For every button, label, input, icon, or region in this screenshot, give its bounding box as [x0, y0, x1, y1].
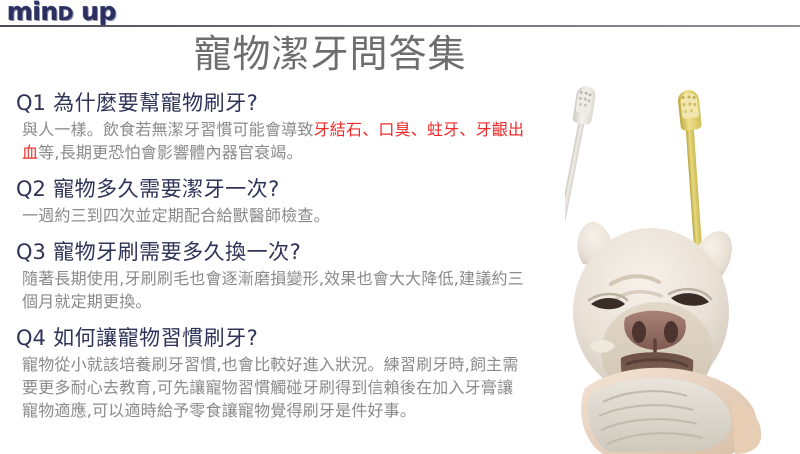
qa-block-q1: Q1 為什麼要幫寵物刷牙? 與人一樣。飲食若無潔牙習慣可能會導致牙結石、口臭、蛀…: [16, 88, 576, 164]
answer-segment: 個月就定期更換。: [22, 292, 152, 311]
qa-answer-q4: 寵物從小就該培養刷牙習慣,也會比較好進入狀況。練習刷牙時,飼主需 要更多耐心去教…: [16, 353, 576, 422]
qa-block-q3: Q3 寵物牙刷需要多久換一次? 隨著長期使用,牙刷刷毛也會逐漸磨損變形,效果也會…: [16, 237, 576, 313]
qa-block-q2: Q2 寵物多久需要潔牙一次? 一週約三到四次並定期配合給獸醫師檢查。: [16, 174, 576, 227]
qa-question-q1: Q1 為什麼要幫寵物刷牙?: [16, 88, 576, 118]
qa-question-text-q3: 寵物牙刷需要多久換一次?: [53, 240, 301, 264]
qa-number-q3: Q3: [16, 240, 46, 264]
poster-page: minD up 寵物潔牙問答集 Q1 為什麼要幫寵物刷牙? 與人一樣。飲食若無潔…: [0, 0, 800, 454]
answer-segment: 寵物適應,可以適時給予零食讓寵物覺得刷牙是件好事。: [22, 401, 416, 420]
qa-answer-line: 寵物適應,可以適時給予零食讓寵物覺得刷牙是件好事。: [22, 399, 576, 422]
qa-block-q4: Q4 如何讓寵物習慣刷牙? 寵物從小就該培養刷牙習慣,也會比較好進入狀況。練習刷…: [16, 323, 576, 422]
qa-answer-q2: 一週約三到四次並定期配合給獸醫師檢查。: [16, 204, 576, 227]
qa-question-q2: Q2 寵物多久需要潔牙一次?: [16, 174, 576, 204]
toothbrush-bristles: [680, 92, 700, 119]
qa-answer-line: 個月就定期更換。: [22, 290, 576, 313]
qa-answer-line: 要更多耐心去教育,可先讓寵物習慣觸碰牙刷得到信賴後在加入牙膏讓: [22, 376, 576, 399]
answer-segment: 一週約三到四次並定期配合給獸醫師檢查。: [22, 206, 330, 225]
header-divider: [0, 25, 800, 27]
answer-segment: 寵物從小就該培養刷牙習慣,也會比較好進入狀況。練習刷牙時,飼主需: [22, 355, 519, 374]
qa-question-text-q4: 如何讓寵物習慣刷牙?: [53, 326, 258, 350]
brand-logo: minD up: [7, 0, 116, 28]
qa-list: Q1 為什麼要幫寵物刷牙? 與人一樣。飲食若無潔牙習慣可能會導致牙結石、口臭、蛀…: [16, 88, 576, 422]
brand-logo-main: min: [7, 0, 58, 26]
qa-question-text-q1: 為什麼要幫寵物刷牙?: [53, 91, 258, 115]
french-bulldog-photo: [565, 212, 800, 454]
qa-answer-line: 與人一樣。飲食若無潔牙習慣可能會導致牙結石、口臭、蛀牙、牙齦出: [22, 118, 576, 141]
qa-question-text-q2: 寵物多久需要潔牙一次?: [53, 177, 280, 201]
qa-question-q3: Q3 寵物牙刷需要多久換一次?: [16, 237, 576, 267]
brand-header: minD up: [0, 0, 800, 28]
answer-segment: 與人一樣。飲食若無潔牙習慣可能會導致: [22, 120, 314, 139]
qa-answer-line: 寵物從小就該培養刷牙習慣,也會比較好進入狀況。練習刷牙時,飼主需: [22, 353, 576, 376]
qa-answer-q3: 隨著長期使用,牙刷刷毛也會逐漸磨損變形,效果也會大大降低,建議約三 個月就定期更…: [16, 267, 576, 313]
brand-logo-tail: up: [73, 0, 116, 26]
answer-segment: 隨著長期使用,牙刷刷毛也會逐漸磨損變形,效果也會大大降低,建議約三: [22, 269, 524, 288]
qa-answer-line: 血等,長期更恐怕會影響體內器官衰竭。: [22, 141, 576, 164]
dog-photo: [565, 62, 800, 454]
answer-segment-highlight: 牙結石、口臭、蛀牙、牙齦出: [314, 120, 525, 139]
qa-answer-line: 一週約三到四次並定期配合給獸醫師檢查。: [22, 204, 576, 227]
qa-number-q2: Q2: [16, 177, 46, 201]
answer-segment-highlight: 血: [22, 143, 38, 162]
qa-answer-line: 隨著長期使用,牙刷刷毛也會逐漸磨損變形,效果也會大大降低,建議約三: [22, 267, 576, 290]
qa-number-q1: Q1: [16, 91, 46, 115]
qa-answer-q1: 與人一樣。飲食若無潔牙習慣可能會導致牙結石、口臭、蛀牙、牙齦出 血等,長期更恐怕…: [16, 118, 576, 164]
qa-number-q4: Q4: [16, 326, 46, 350]
answer-segment: 等,長期更恐怕會影響體內器官衰竭。: [38, 143, 303, 162]
brand-logo-smallcap: D: [58, 3, 73, 25]
qa-question-q4: Q4 如何讓寵物習慣刷牙?: [16, 323, 576, 353]
answer-segment: 要更多耐心去教育,可先讓寵物習慣觸碰牙刷得到信賴後在加入牙膏讓: [22, 378, 513, 397]
